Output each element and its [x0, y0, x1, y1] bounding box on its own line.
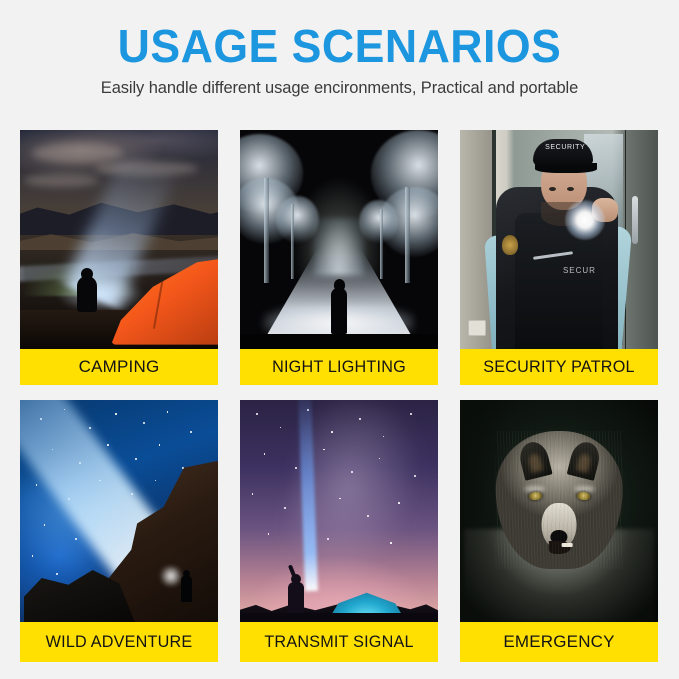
tree-trunk — [405, 187, 410, 283]
night-lighting-label-bar: NIGHT LIGHTING — [240, 349, 438, 385]
security-patrol-scene: SECUR SECURITY — [460, 130, 658, 349]
scenario-card-wild-adventure[interactable]: WILD ADVENTURE — [20, 400, 218, 662]
night-lighting-scene — [240, 130, 438, 349]
page-header: USAGE SCENARIOS Easily handle different … — [0, 0, 679, 98]
vest-stripe — [533, 251, 573, 260]
eye — [549, 187, 556, 191]
transmit-signal-scene — [240, 400, 438, 622]
star-field — [240, 400, 438, 622]
security-patrol-image: SECUR SECURITY — [460, 130, 658, 349]
security-patrol-label-bar: SECURITY PATROL — [460, 349, 658, 385]
emergency-label-bar: EMERGENCY — [460, 622, 658, 662]
door-handle — [632, 196, 638, 244]
chest-text: SECUR — [563, 266, 596, 275]
flashlight-glow — [56, 277, 145, 312]
cloud-icon — [24, 174, 99, 187]
security-cap — [533, 139, 593, 165]
camping-label-bar: CAMPING — [20, 349, 218, 385]
wall-right — [626, 130, 658, 349]
tree-trunk — [380, 209, 383, 279]
emergency-scene — [460, 400, 658, 622]
scenario-card-camping[interactable]: CAMPING — [20, 130, 218, 385]
scenario-card-night-lighting[interactable]: NIGHT LIGHTING — [240, 130, 438, 385]
scenario-grid: CAMPING — [20, 130, 659, 662]
page-title: USAGE SCENARIOS — [10, 22, 669, 70]
hiker-silhouette — [181, 576, 192, 602]
camper-silhouette — [77, 276, 97, 312]
usage-scenarios-page: USAGE SCENARIOS Easily handle different … — [0, 0, 679, 679]
scenario-card-emergency[interactable]: EMERGENCY — [460, 400, 658, 662]
scenario-label: CAMPING — [79, 357, 160, 377]
page-subtitle: Easily handle different usage encironmen… — [0, 79, 679, 98]
cloud-icon — [32, 143, 123, 163]
flashlight-beam — [565, 200, 605, 240]
wild-adventure-image — [20, 400, 218, 622]
transmit-signal-label-bar: TRANSMIT SIGNAL — [240, 622, 438, 662]
scenario-label: EMERGENCY — [503, 632, 614, 652]
camping-image — [20, 130, 218, 349]
scenario-card-transmit-signal[interactable]: TRANSMIT SIGNAL — [240, 400, 438, 662]
eye — [567, 187, 574, 191]
tree-trunk — [291, 204, 294, 278]
badge-icon — [502, 235, 518, 255]
cap-text: SECURITY — [545, 144, 585, 151]
wild-adventure-label-bar: WILD ADVENTURE — [20, 622, 218, 662]
walker-silhouette — [331, 288, 347, 334]
wall-outlet — [468, 320, 486, 336]
scenario-card-security-patrol[interactable]: SECUR SECURITY SECURITY PATROL — [460, 130, 658, 385]
snow-tree-icon — [276, 196, 320, 244]
night-lighting-image — [240, 130, 438, 349]
scenario-label: SECURITY PATROL — [483, 358, 634, 377]
foreground-dark — [240, 334, 438, 349]
scenario-label: NIGHT LIGHTING — [272, 358, 406, 377]
transmit-signal-image — [240, 400, 438, 622]
scenario-label: WILD ADVENTURE — [46, 633, 193, 652]
emergency-image — [460, 400, 658, 622]
camping-scene — [20, 130, 218, 349]
wolf-head — [496, 431, 623, 569]
scenario-label: TRANSMIT SIGNAL — [264, 633, 413, 652]
ground — [240, 613, 438, 622]
fur-texture — [496, 431, 623, 569]
tree-trunk — [264, 178, 269, 283]
wild-adventure-scene — [20, 400, 218, 622]
